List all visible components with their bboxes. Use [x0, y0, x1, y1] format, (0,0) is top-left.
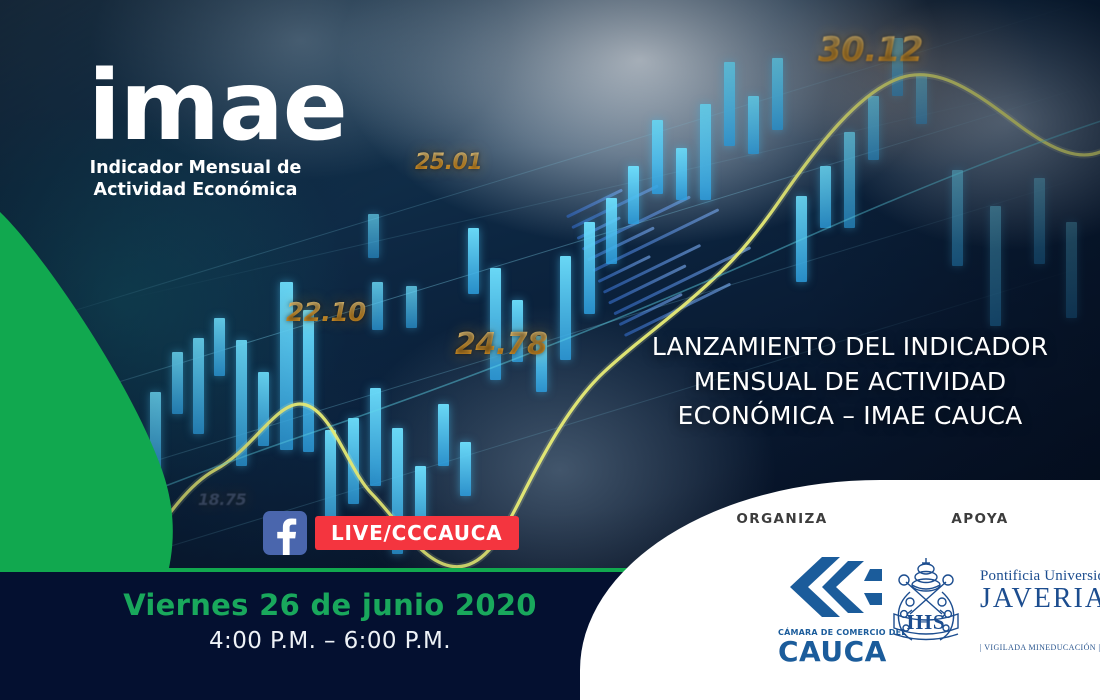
imae-logo: imae Indicador Mensual de Actividad Econ…: [88, 62, 347, 202]
javeriana-logo: IHS Pontificia Universidad JAVERIANA Cal…: [880, 552, 1100, 652]
facebook-live-row[interactable]: LIVE/CCCAUCA: [263, 511, 519, 555]
imae-logo-subtitle: Indicador Mensual de Actividad Económica: [88, 158, 303, 202]
imae-subtitle-line1: Indicador Mensual de: [88, 158, 303, 180]
javeriana-line2: JAVERIANA: [980, 585, 1100, 614]
organiza-label: ORGANIZA: [702, 511, 862, 527]
chart-value-25-01: 25.01: [415, 150, 482, 175]
imae-subtitle-line2: Actividad Económica: [88, 180, 303, 202]
imae-logo-wordmark: imae: [88, 62, 347, 150]
promo-poster: 30.12 25.01 22.10 24.78 18.75 imae Indic…: [0, 0, 1100, 700]
headline-line1: LANZAMIENTO DEL INDICADOR: [640, 330, 1060, 365]
camara-name: CAUCA: [778, 638, 886, 666]
headline-line2: MENSUAL DE ACTIVIDAD: [640, 365, 1060, 400]
chart-value-24-78: 24.78: [455, 327, 547, 362]
event-date: Viernes 26 de junio 2020: [60, 588, 600, 622]
apoya-label: APOYA: [900, 511, 1060, 527]
camara-comercio-logo: CÁMARA DE COMERCIO DEL CAUCA: [778, 555, 886, 666]
javeriana-text: Pontificia Universidad JAVERIANA Cali | …: [980, 552, 1100, 652]
javeriana-vigilada: | VIGILADA MINEDUCACIÓN |: [980, 643, 1100, 652]
javeriana-line3: Cali: [980, 614, 1100, 631]
camara-comercio-chevron-icon: [778, 555, 886, 619]
chart-value-30-12: 30.12: [818, 30, 923, 70]
svg-text:IHS: IHS: [906, 610, 945, 634]
chart-value-22-10: 22.10: [286, 298, 366, 328]
javeriana-ihs-seal-icon: IHS: [880, 552, 972, 652]
event-headline: LANZAMIENTO DEL INDICADOR MENSUAL DE ACT…: [640, 330, 1060, 434]
headline-line3: ECONÓMICA – IMAE CAUCA: [640, 399, 1060, 434]
facebook-icon[interactable]: [263, 511, 307, 555]
live-channel-badge[interactable]: LIVE/CCCAUCA: [315, 516, 519, 550]
event-time: 4:00 P.M. – 6:00 P.M.: [60, 628, 600, 654]
